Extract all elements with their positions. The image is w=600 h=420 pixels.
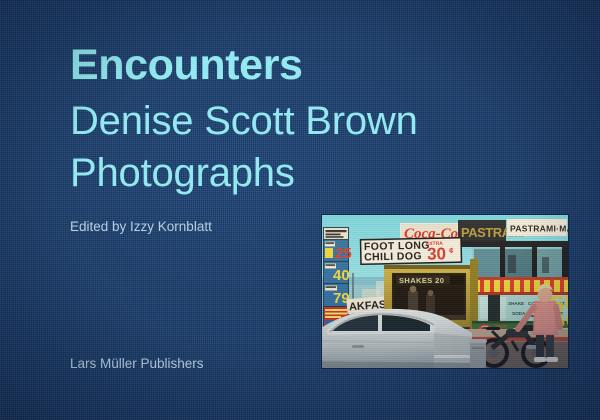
cover-photograph: 25 40 79	[322, 215, 568, 368]
title-subtitle: Photographs	[70, 150, 580, 196]
author-name: Denise Scott Brown	[70, 98, 580, 144]
svg-text:¢: ¢	[449, 246, 454, 255]
svg-text:40: 40	[333, 267, 350, 284]
svg-text:SHAKE: SHAKE	[508, 301, 524, 306]
book-cover: 25 40 79	[0, 0, 600, 420]
svg-text:SHAKES 20: SHAKES 20	[399, 276, 444, 285]
publisher-name: Lars Müller Publishers	[70, 355, 580, 372]
svg-text:30: 30	[427, 244, 446, 263]
svg-text:SODA: SODA	[512, 311, 526, 316]
photograph-artwork: 25 40 79	[322, 215, 568, 368]
svg-text:CHILI DOG: CHILI DOG	[364, 250, 422, 263]
page-title: Encounters	[70, 41, 580, 89]
svg-text:25: 25	[335, 245, 352, 262]
editor-credit: Edited by Izzy Kornblatt	[70, 218, 580, 235]
